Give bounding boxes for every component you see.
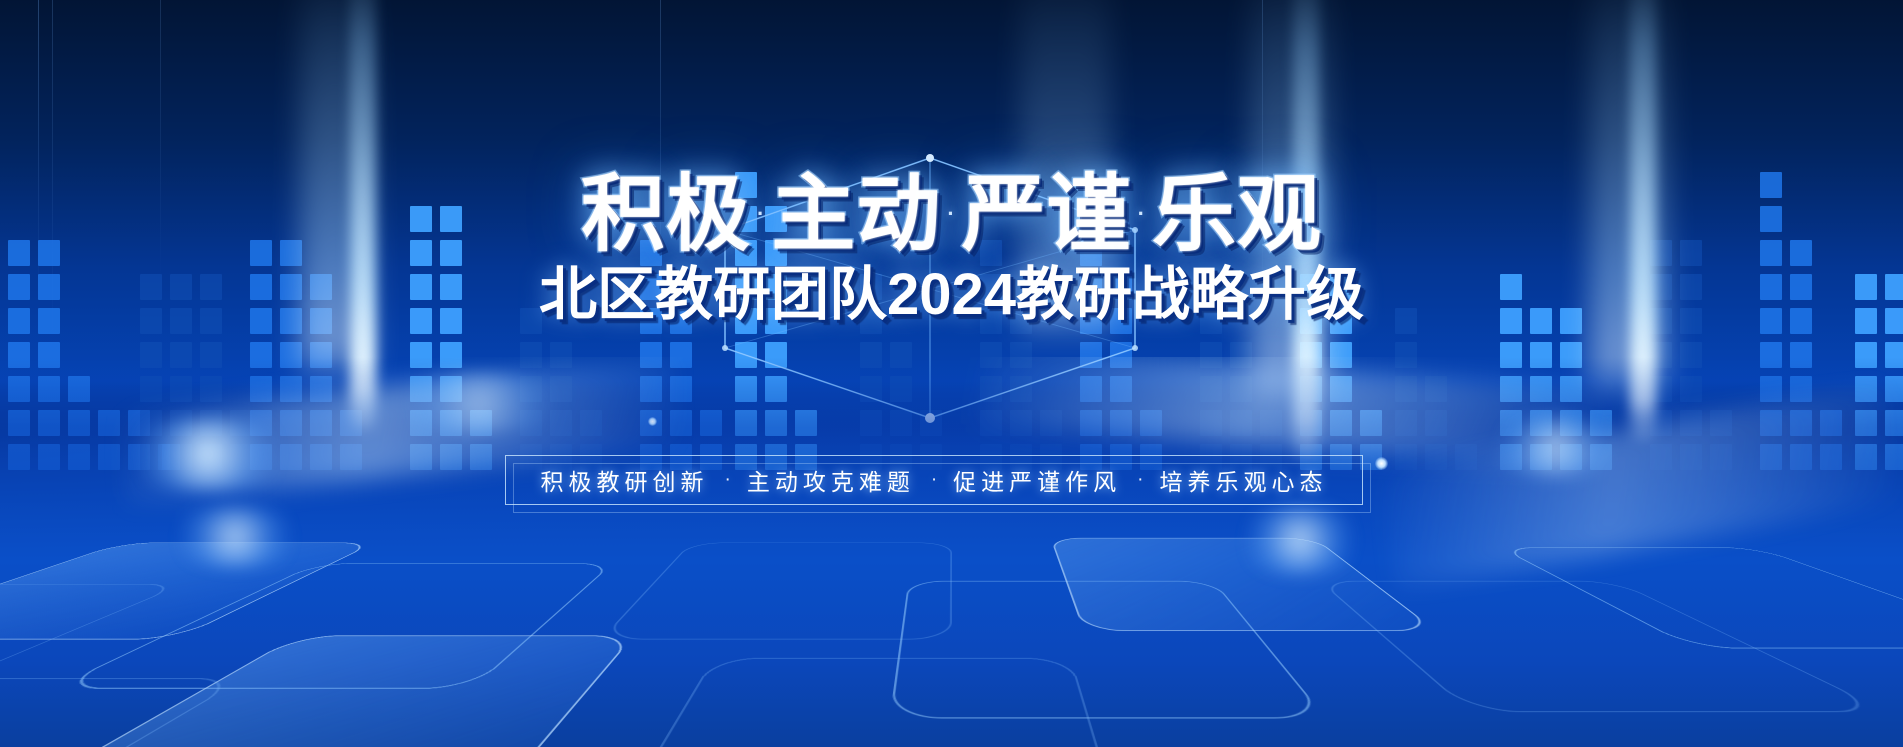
hairline-decor: [160, 0, 161, 280]
sub-title: 北区教研团队2024教研战略升级: [0, 266, 1903, 324]
floor-sheen: [978, 357, 1602, 469]
hairline-decor: [1262, 0, 1263, 330]
main-title-separator: ·: [947, 203, 955, 225]
main-title-word-1: 积极: [581, 167, 751, 261]
light-beam: [1590, 0, 1666, 400]
floor-plate-group: [0, 533, 1903, 747]
floor-plate: [584, 658, 1135, 747]
main-title-separator: ·: [757, 203, 765, 225]
hairline-decor: [52, 0, 53, 340]
floor-node-dot: [648, 417, 657, 426]
main-title-word-2: 主动: [771, 167, 941, 261]
light-beam: [300, 0, 370, 380]
floor-glow: [380, 373, 580, 433]
main-title-word-4: 乐观: [1152, 167, 1322, 261]
main-title: 积极·主动·严谨·乐观: [0, 172, 1903, 256]
floor-plate: [600, 543, 952, 640]
floor-node-dot: [1375, 457, 1388, 470]
perspective-floor: [0, 357, 1903, 747]
floor-glow: [1480, 417, 1630, 477]
floor-glow: [118, 419, 298, 489]
main-title-word-3: 严谨: [962, 167, 1132, 261]
banner-canvas: 积极·主动·严谨·乐观 北区教研团队2024教研战略升级 积极教研创新 · 主动…: [0, 0, 1903, 747]
hairline-decor: [38, 0, 39, 300]
main-title-separator: ·: [1138, 203, 1146, 225]
floor-sheen: [117, 357, 683, 504]
light-beam: [1020, 0, 1110, 340]
hairline-decor: [660, 0, 661, 360]
